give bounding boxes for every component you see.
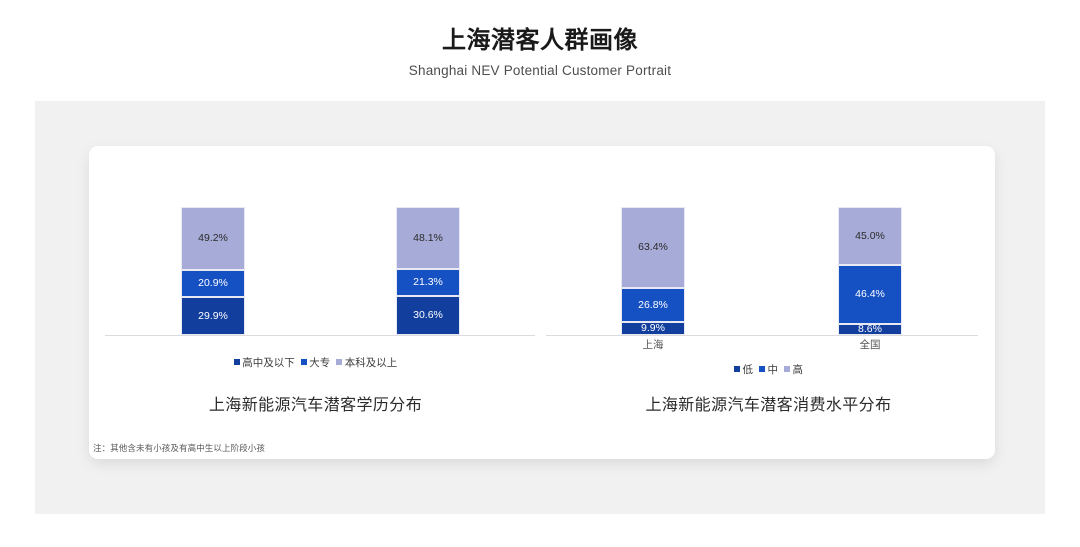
legend-item[interactable]: 低 <box>734 362 753 377</box>
legend-swatch-icon <box>734 366 740 372</box>
x-tick-label: 上海 <box>621 337 685 352</box>
bar-segment-low: 9.9% <box>621 322 685 335</box>
bar-segment-mid: 26.8% <box>621 288 685 322</box>
content-card: 49.2%20.9%29.9% 48.1%21.3%30.6% 高中及以下大专本… <box>89 146 995 459</box>
legend-label: 中 <box>768 364 779 376</box>
bar-segment-label: 45.0% <box>855 231 885 242</box>
bar-segment-label: 30.6% <box>413 310 443 321</box>
legend-swatch-icon <box>301 359 307 365</box>
bar-segment-low: 30.6% <box>396 296 460 335</box>
page-subtitle: Shanghai NEV Potential Customer Portrait <box>0 56 1080 78</box>
x-tick-label: 全国 <box>838 337 902 352</box>
x-tick-row <box>89 337 542 355</box>
legend-label: 高 <box>793 364 804 376</box>
legend-item[interactable]: 高 <box>784 362 803 377</box>
plot-area-consumption: 63.4%26.8%9.9% 45.0%46.4%8.6% <box>542 146 995 336</box>
bar-segment-high: 45.0% <box>838 207 902 265</box>
bar-segment-mid: 46.4% <box>838 265 902 324</box>
legend-item[interactable]: 本科及以上 <box>336 355 397 370</box>
bar-segment-label: 26.8% <box>638 300 668 311</box>
axis-baseline <box>546 335 978 336</box>
chart-legend-education: 高中及以下大专本科及以上 <box>89 355 542 370</box>
bar-segment-high: 49.2% <box>181 207 245 270</box>
stacked-bar: 48.1%21.3%30.6% <box>396 207 460 335</box>
stacked-bar: 63.4%26.8%9.9% <box>621 207 685 335</box>
bar-segment-label: 63.4% <box>638 242 668 253</box>
legend-item[interactable]: 大专 <box>301 355 331 370</box>
bar-segment-label: 20.9% <box>198 278 228 289</box>
bar-segment-low: 29.9% <box>181 297 245 335</box>
x-tick-row: 上海 全国 <box>542 337 995 355</box>
legend-swatch-icon <box>784 366 790 372</box>
chart-panel-education: 49.2%20.9%29.9% 48.1%21.3%30.6% 高中及以下大专本… <box>89 146 542 459</box>
legend-swatch-icon <box>336 359 342 365</box>
axis-baseline <box>105 335 535 336</box>
legend-item[interactable]: 中 <box>759 362 778 377</box>
bar-segment-label: 9.9% <box>641 323 665 334</box>
legend-label: 低 <box>743 364 754 376</box>
bar-segment-high: 63.4% <box>621 207 685 288</box>
bar-segment-high: 48.1% <box>396 207 460 269</box>
legend-swatch-icon <box>234 359 240 365</box>
footnote: 注：其他含未有小孩及有高中生以上阶段小孩 <box>89 442 999 454</box>
plot-area-education: 49.2%20.9%29.9% 48.1%21.3%30.6% <box>89 146 542 336</box>
stacked-bar: 49.2%20.9%29.9% <box>181 207 245 335</box>
bar-segment-low: 8.6% <box>838 324 902 335</box>
legend-item[interactable]: 高中及以下 <box>234 355 295 370</box>
page-header: 上海潜客人群画像 Shanghai NEV Potential Customer… <box>0 0 1080 78</box>
bar-segment-label: 21.3% <box>413 277 443 288</box>
chart-legend-consumption: 低中高 <box>542 362 995 377</box>
bar-segment-label: 46.4% <box>855 289 885 300</box>
bar-segment-label: 49.2% <box>198 233 228 244</box>
bar-segment-mid: 21.3% <box>396 269 460 296</box>
bar-segment-label: 8.6% <box>858 324 882 335</box>
page-title: 上海潜客人群画像 <box>0 0 1080 56</box>
chart-caption-education: 上海新能源汽车潜客学历分布 <box>89 391 542 415</box>
bar-segment-label: 48.1% <box>413 233 443 244</box>
legend-swatch-icon <box>759 366 765 372</box>
legend-label: 本科及以上 <box>345 357 398 369</box>
chart-caption-consumption: 上海新能源汽车潜客消费水平分布 <box>542 391 995 415</box>
stacked-bar: 45.0%46.4%8.6% <box>838 207 902 335</box>
legend-label: 高中及以下 <box>242 357 295 369</box>
chart-panel-consumption: 63.4%26.8%9.9% 45.0%46.4%8.6% 上海 全国 低中高 … <box>542 146 995 459</box>
bar-segment-label: 29.9% <box>198 311 228 322</box>
legend-label: 大专 <box>309 357 330 369</box>
bar-segment-mid: 20.9% <box>181 270 245 297</box>
